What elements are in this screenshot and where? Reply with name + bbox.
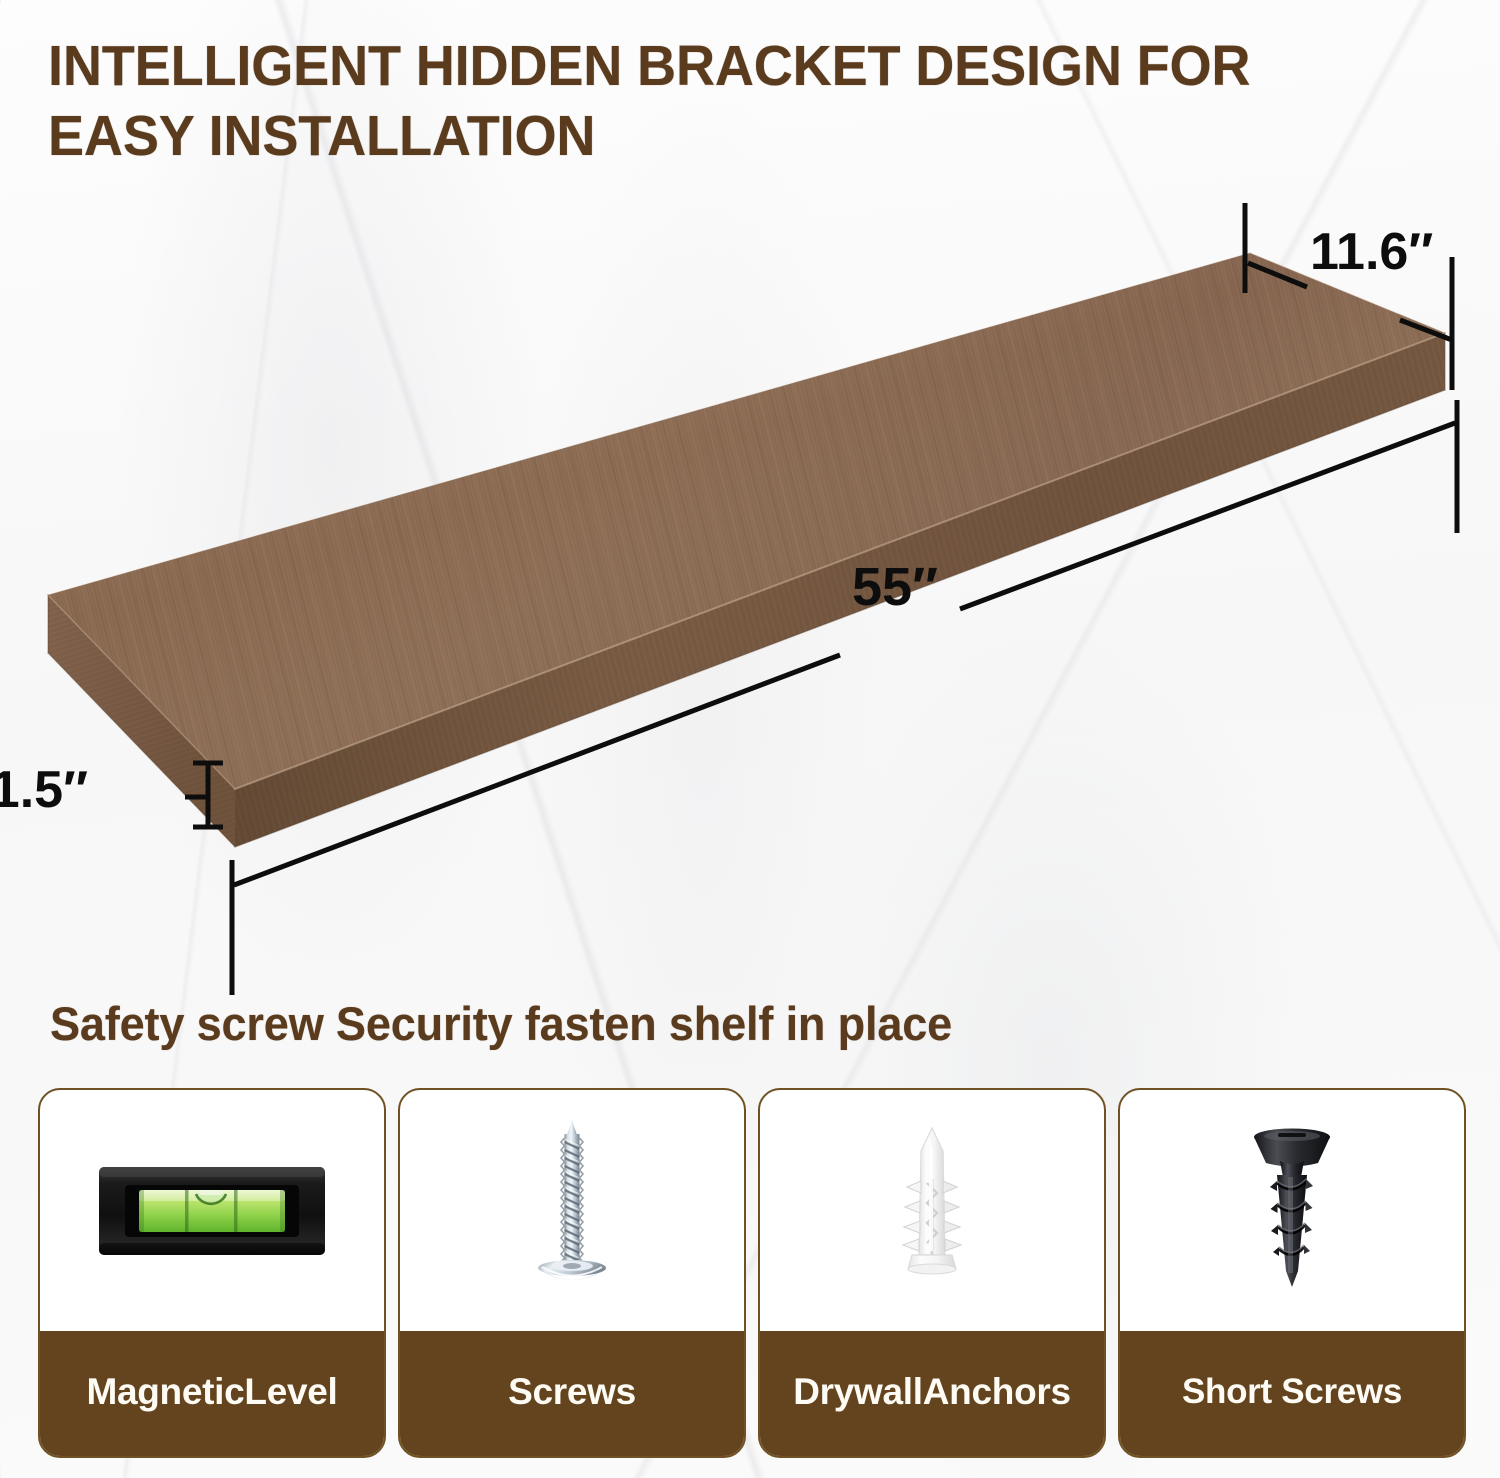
accessory-label-line-2: Level bbox=[244, 1370, 337, 1414]
drywall-anchor-icon bbox=[872, 1123, 992, 1298]
accessory-card-drywall-anchors[interactable]: Drywall Anchors bbox=[758, 1088, 1106, 1458]
dimension-depth-label: 11.6″ bbox=[1310, 223, 1433, 281]
bubble-level-icon bbox=[97, 1163, 327, 1259]
accessory-card-magnetic-level[interactable]: Magnetic Level bbox=[38, 1088, 386, 1458]
accessories-list: Magnetic Level bbox=[38, 1088, 1466, 1458]
section-subtitle: Safety screw Security fasten shelf in pl… bbox=[50, 998, 1375, 1050]
accessory-label-magnetic-level: Magnetic Level bbox=[40, 1331, 384, 1456]
shelf-diagram: 11.6″ 55″ 1.5″ bbox=[0, 185, 1500, 865]
accessory-image-short-screws bbox=[1120, 1090, 1464, 1331]
accessory-label-line-1: Magnetic bbox=[86, 1370, 244, 1414]
accessory-label-screws: Screws bbox=[400, 1331, 744, 1456]
accessory-label-line-1: Drywall bbox=[793, 1370, 923, 1414]
long-screw-icon bbox=[512, 1116, 632, 1306]
page-title: INTELLIGENT HIDDEN BRACKET DESIGN FOR EA… bbox=[48, 32, 1397, 171]
accessory-card-screws[interactable]: Screws bbox=[398, 1088, 746, 1458]
accessory-card-short-screws[interactable]: Short Screws bbox=[1118, 1088, 1466, 1458]
accessory-image-drywall-anchors bbox=[760, 1090, 1104, 1331]
accessory-label-line-2: Anchors bbox=[923, 1370, 1071, 1414]
accessory-label-drywall-anchors: Drywall Anchors bbox=[760, 1331, 1104, 1456]
dimension-length-label: 55″ bbox=[852, 557, 938, 617]
accessory-label-short-screws: Short Screws bbox=[1120, 1331, 1464, 1456]
shelf-top-face bbox=[48, 253, 1445, 789]
accessory-image-screws bbox=[400, 1090, 744, 1331]
short-screw-icon bbox=[1232, 1121, 1352, 1301]
accessory-image-magnetic-level bbox=[40, 1090, 384, 1331]
dimension-thickness-label: 1.5″ bbox=[0, 761, 88, 819]
